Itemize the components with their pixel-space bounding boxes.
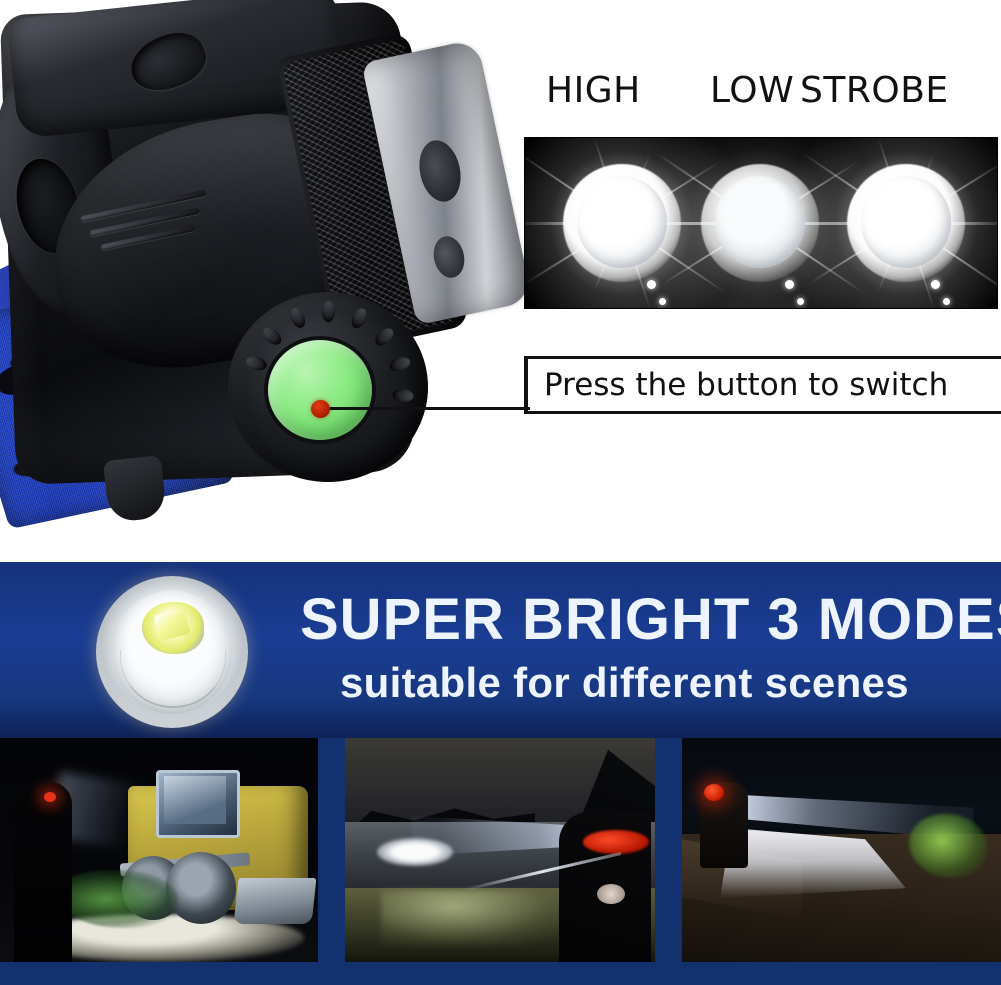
product-infographic: HIGH LOW STROBE	[0, 0, 1001, 985]
led-modes-panel	[524, 137, 998, 309]
loader-wheel	[166, 852, 236, 924]
loader-cab-glass	[164, 776, 226, 824]
mode-label-low: LOW	[710, 70, 794, 111]
mode-label-high: HIGH	[546, 70, 641, 111]
callout-box: Press the button to switch	[524, 356, 1001, 414]
green-power-button[interactable]	[268, 340, 372, 440]
top-product-section: HIGH LOW STROBE	[0, 0, 1001, 562]
beam-hotspot-on-water	[377, 838, 453, 866]
callout-bracket-bottom	[524, 411, 1001, 414]
photo-night-fishing	[345, 738, 655, 962]
housing-bottom-tab	[103, 455, 167, 523]
red-indicator-dot	[311, 400, 330, 418]
red-headlamp-indicator	[44, 792, 56, 802]
person-silhouette	[14, 782, 72, 962]
angler-hands	[597, 884, 625, 904]
grass-light-pool	[381, 890, 561, 946]
mode-labels: HIGH LOW STROBE	[528, 70, 994, 128]
red-headlamp-indicator	[704, 784, 724, 801]
photo-night-construction-loader	[0, 738, 318, 962]
red-light-glow	[583, 830, 649, 854]
led-spark	[931, 280, 940, 289]
mode-label-strobe: STROBE	[800, 70, 949, 111]
callout-bracket-top	[524, 356, 1001, 359]
usage-photo-strip	[0, 738, 1001, 985]
callout-text: Press the button to switch	[544, 362, 948, 408]
led-reflector-icon	[96, 576, 248, 728]
banner-subtitle: suitable for different scenes	[340, 658, 980, 708]
led-strobe	[847, 164, 965, 282]
callout-bracket-left	[524, 356, 528, 414]
led-dome	[861, 176, 951, 268]
callout-leader-line	[330, 407, 530, 410]
led-spark	[943, 298, 950, 305]
photo-night-road-walk	[682, 738, 1001, 962]
loader-bucket	[234, 878, 317, 924]
headlamp-product-photo	[0, 0, 510, 555]
banner-title: SUPER BRIGHT 3 MODES	[300, 588, 980, 652]
